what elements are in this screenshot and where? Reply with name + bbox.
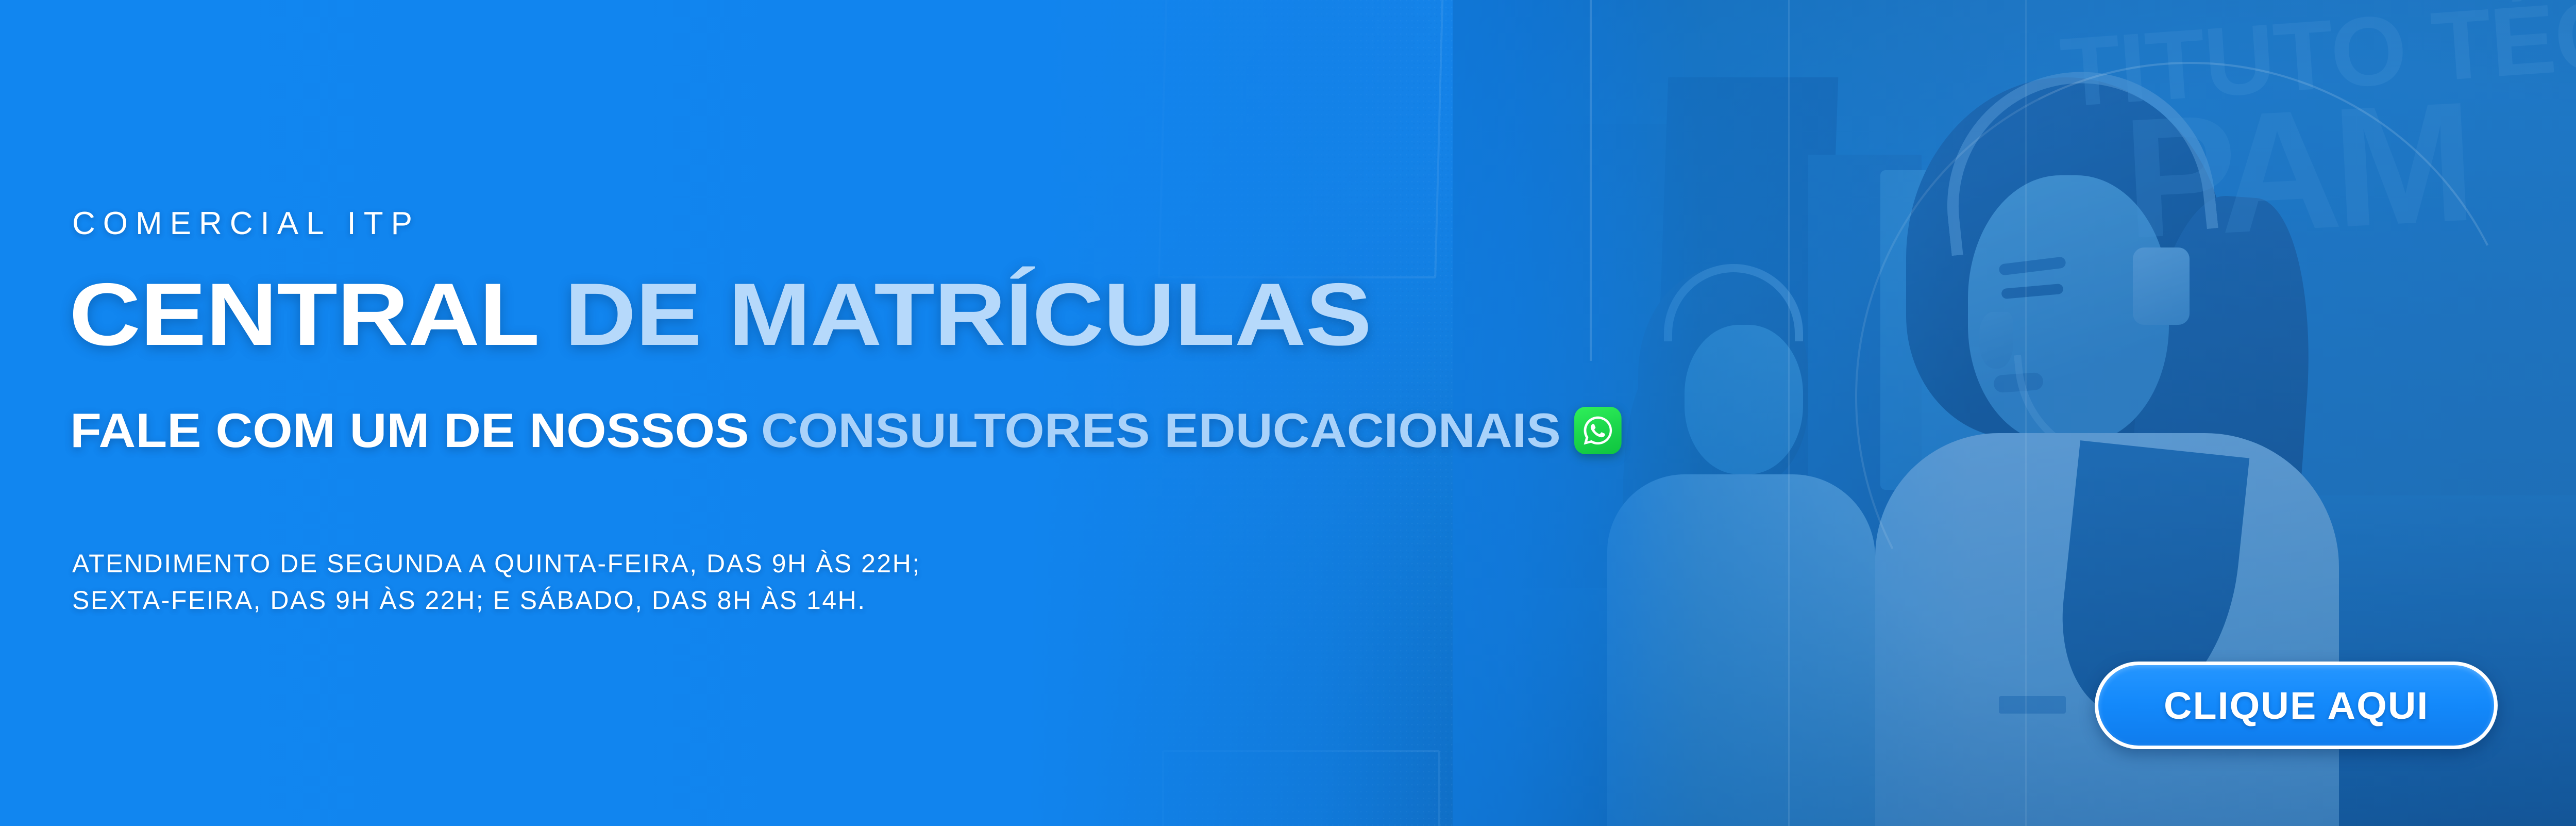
cta-button-label: CLIQUE AQUI (2164, 684, 2429, 728)
page-title: CENTRAL DE MATRÍCULAS (69, 270, 1371, 359)
opening-hours-line-2: SEXTA-FEIRA, DAS 9H ÀS 22H; E SÁBADO, DA… (72, 582, 921, 619)
subheadline-part-secondary: CONSULTORES EDUCACIONAIS (761, 406, 1561, 455)
subheadline: FALE COM UM DE NOSSOS CONSULTORES EDUCAC… (70, 406, 1623, 455)
headline-part-primary: CENTRAL (69, 265, 537, 364)
promo-banner: TITUTO TÉCN PAM T COMERCIAL ITP CENTRAL … (0, 0, 2576, 826)
headline-part-secondary: DE MATRÍCULAS (564, 265, 1371, 364)
whatsapp-icon[interactable] (1574, 407, 1622, 454)
subheadline-part-primary: FALE COM UM DE NOSSOS (70, 406, 749, 455)
banner-content: COMERCIAL ITP CENTRAL DE MATRÍCULAS FALE… (0, 0, 2576, 826)
eyebrow-label: COMERCIAL ITP (72, 205, 420, 242)
opening-hours: ATENDIMENTO DE SEGUNDA A QUINTA-FEIRA, D… (72, 546, 921, 619)
cta-button[interactable]: CLIQUE AQUI (2095, 662, 2498, 749)
opening-hours-line-1: ATENDIMENTO DE SEGUNDA A QUINTA-FEIRA, D… (72, 546, 921, 582)
